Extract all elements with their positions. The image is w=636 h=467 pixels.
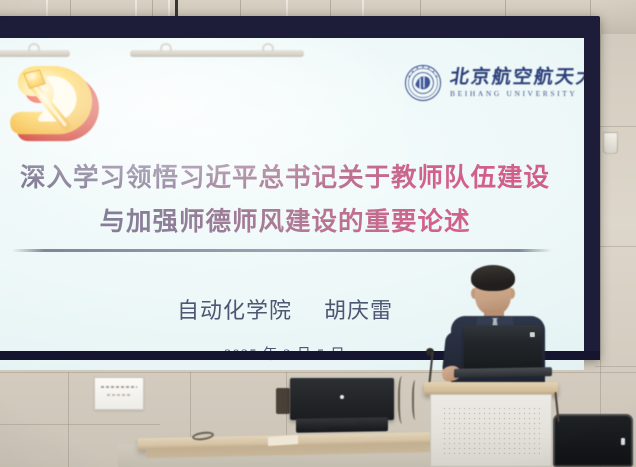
screen-mount-hook [262, 43, 274, 55]
hair [471, 265, 515, 291]
desk-keyboard [296, 417, 388, 433]
wall-panel-seam [595, 366, 636, 367]
screen-mount-bar [130, 50, 304, 57]
office-chair [553, 414, 633, 467]
podium-mesh-panel [442, 406, 540, 454]
university-name-cn: 北京航空航天大学 [449, 68, 584, 88]
cpc-hammer-sickle-emblem [8, 64, 106, 146]
presenter-name: 胡庆雷 [324, 299, 393, 324]
chair-highlight [621, 438, 625, 445]
presenter-laptop [464, 325, 543, 371]
wall-panel-seam [595, 246, 636, 247]
laptop-base [454, 367, 552, 378]
desk-cable [412, 380, 420, 420]
lecture-hall-photo: 北京航空航天大学 BEIHANG UNIVERSITY 深入学习领悟习近平总书记… [0, 0, 636, 467]
screen-mount-hook [28, 43, 40, 55]
wall-panel-seam [68, 372, 69, 467]
university-name-en: BEIHANG UNIVERSITY [450, 89, 584, 98]
beihang-university-logo: 北京航空航天大学 BEIHANG UNIVERSITY [404, 64, 584, 102]
slide-title: 深入学习领悟习近平总书记关于教师队伍建设 与加强师德师风建设的重要论述 [0, 156, 584, 244]
presenter-affiliation: 自动化学院 [177, 299, 292, 324]
laptop-logo [530, 332, 535, 337]
wall-fixture [603, 132, 618, 154]
monitor-stand [276, 388, 290, 414]
beihang-university-seal-icon [404, 64, 442, 102]
screen-mount-hook [160, 43, 172, 55]
wall-panel-seam [0, 424, 160, 425]
desk-monitor [290, 378, 394, 420]
wall-notice-sign [94, 377, 144, 410]
wall-panel-seam [600, 34, 601, 467]
sign-text-line [101, 386, 137, 388]
desk-cable [398, 376, 408, 424]
slide-title-line-2: 与加强师德师风建设的重要论述 [0, 200, 584, 244]
slide-divider-line [12, 249, 552, 252]
sign-text-line [107, 394, 131, 396]
slide-title-line-1: 深入学习领悟习近平总书记关于教师队伍建设 [0, 156, 584, 200]
monitor-power-led [340, 395, 344, 399]
wall-panel-seam [595, 126, 636, 127]
